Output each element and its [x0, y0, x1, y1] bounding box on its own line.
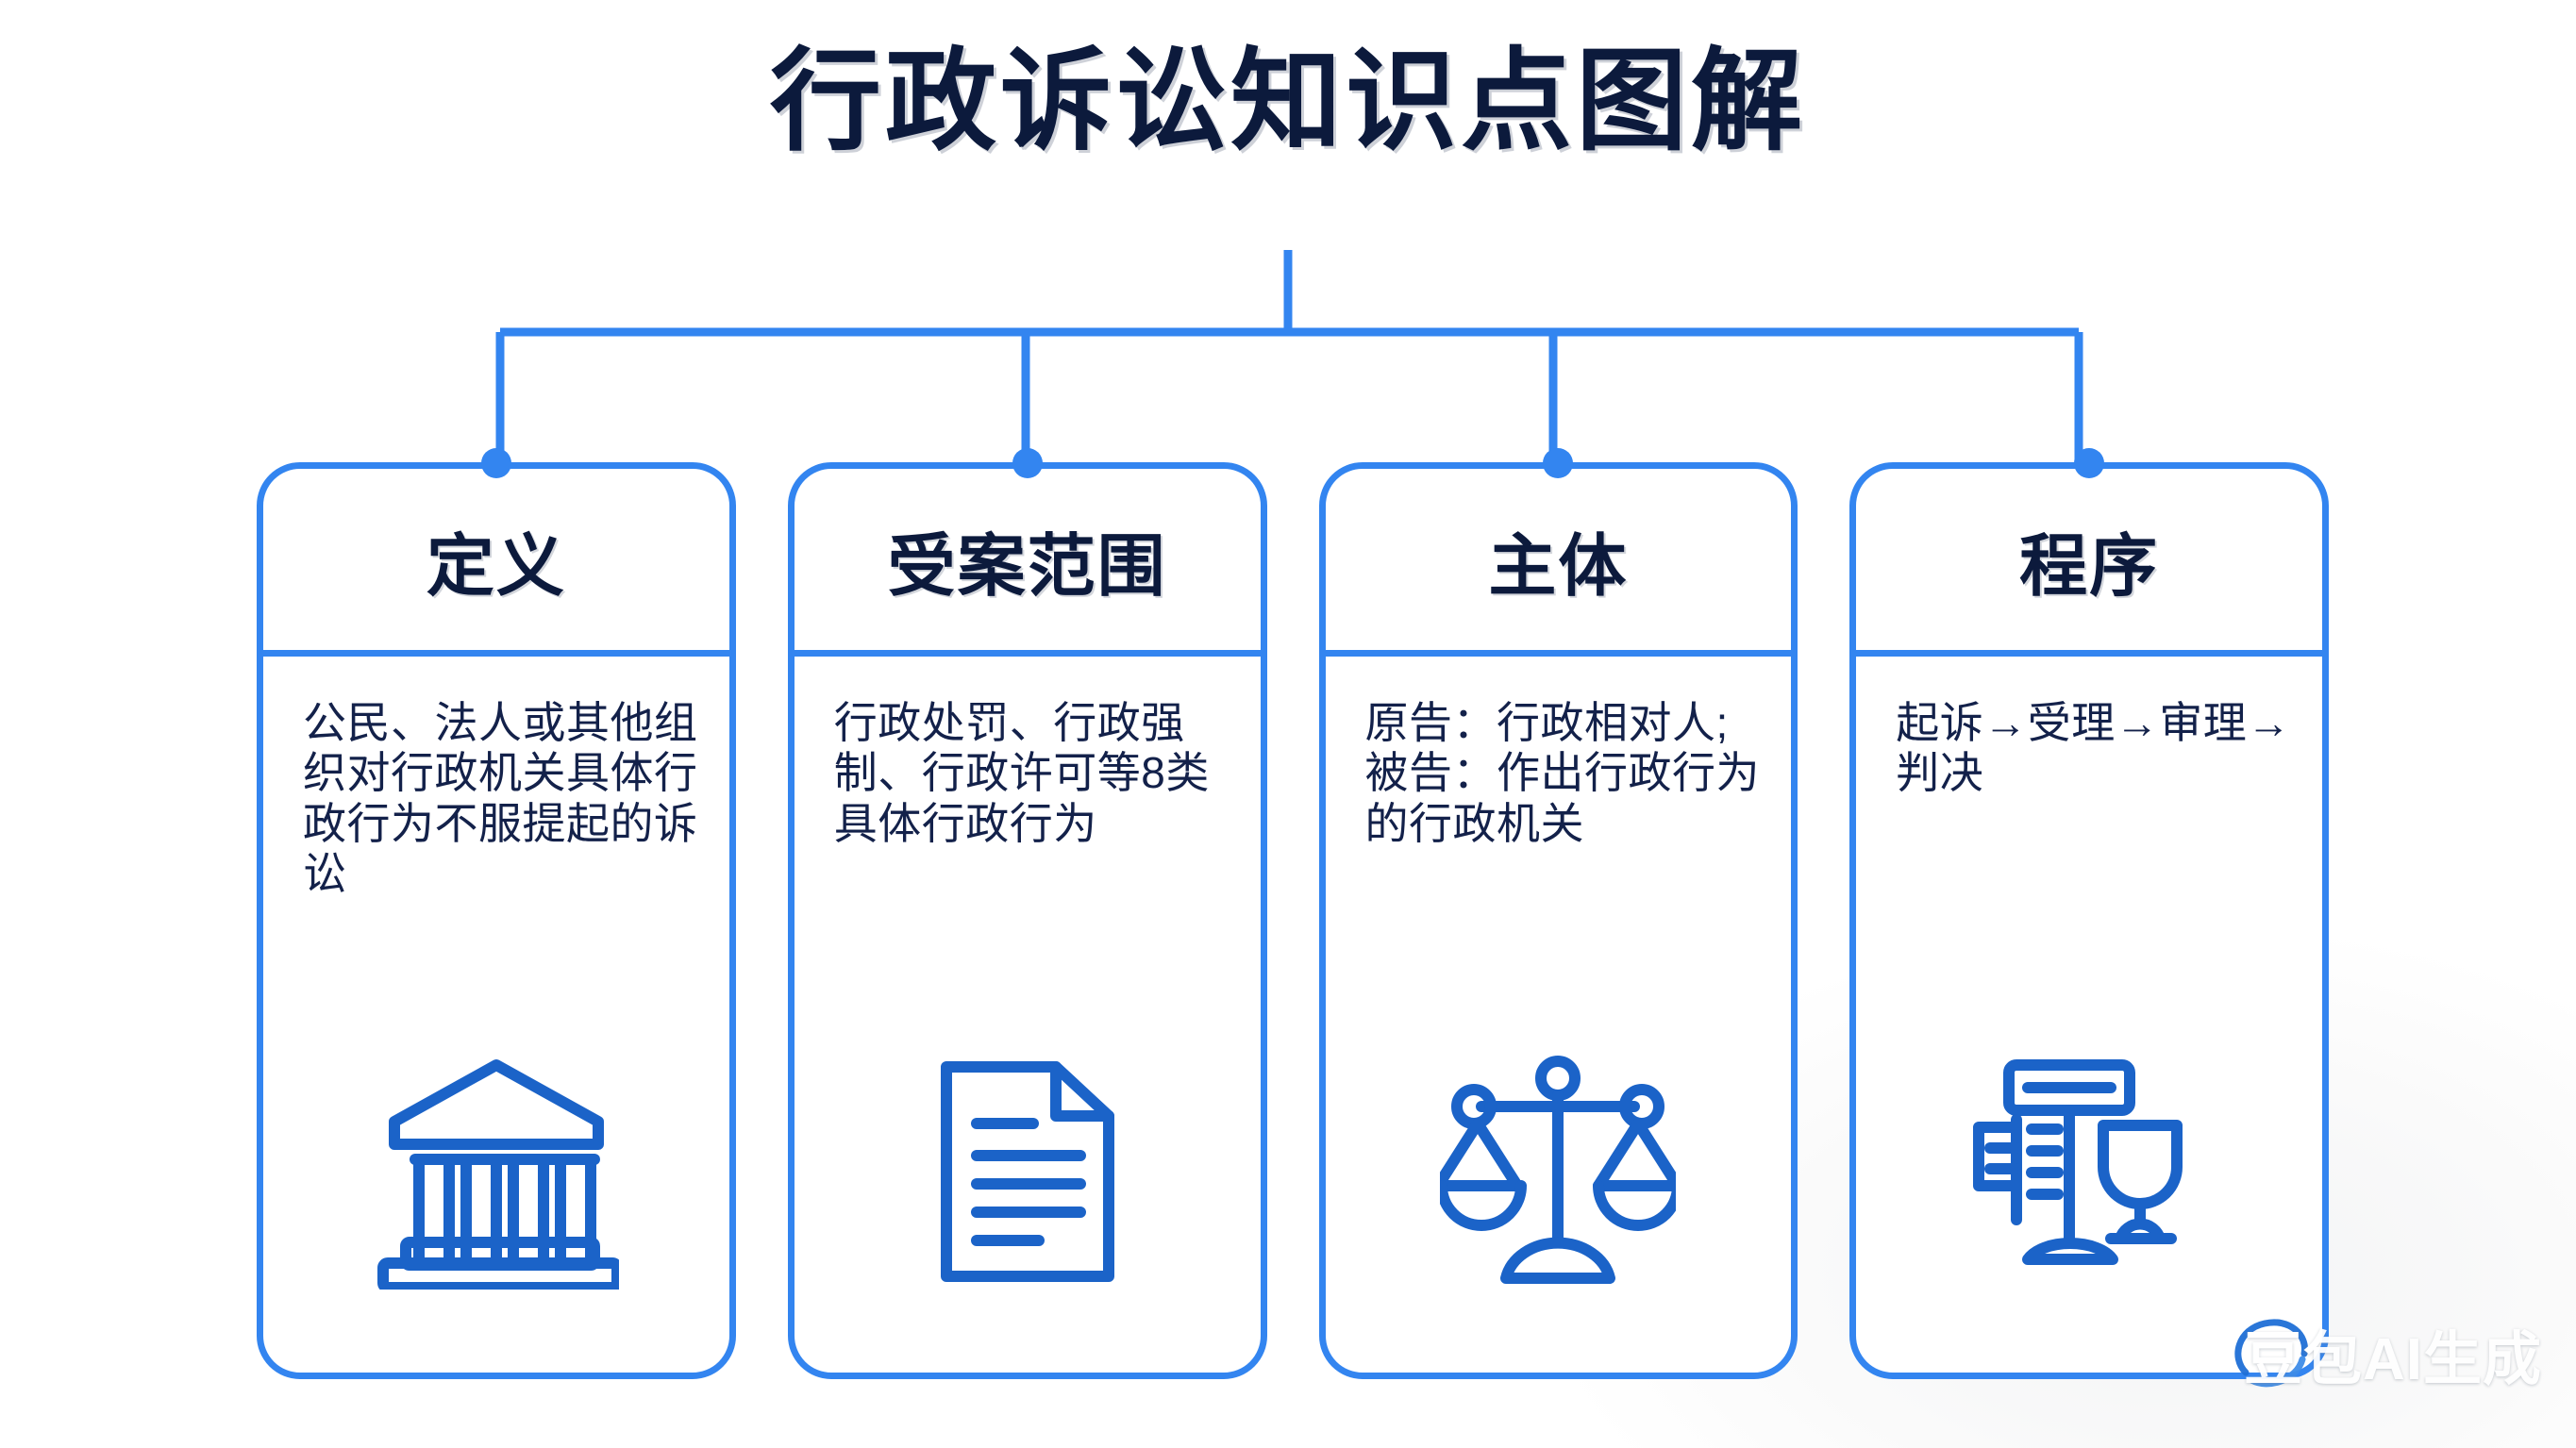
card-body: 原告：行政相对人;被告：作出行政行为的行政机关: [1326, 657, 1792, 1016]
card-header: 定义: [263, 469, 729, 657]
watermark: 豆包AI生成: [2227, 1308, 2542, 1399]
diagram-canvas: 行政诉讼知识点图解 定义 公民、法人或其他组织对行政机关具体行政行为不服提起的诉…: [0, 0, 2576, 1448]
page-title: 行政诉讼知识点图解: [0, 40, 2576, 164]
card-title: 主体: [1488, 510, 1628, 609]
card-body: 公民、法人或其他组织对行政机关具体行政行为不服提起的诉讼: [263, 657, 729, 1016]
card-definition[interactable]: 定义 公民、法人或其他组织对行政机关具体行政行为不服提起的诉讼: [257, 462, 736, 1379]
card-text: 行政处罚、行政强制、行政许可等8类具体行政行为: [834, 698, 1236, 849]
card-text: 公民、法人或其他组织对行政机关具体行政行为不服提起的诉讼: [303, 698, 705, 899]
connector-dot: [481, 448, 511, 478]
card-text: 原告：行政相对人;被告：作出行政行为的行政机关: [1365, 698, 1767, 849]
connector-dot: [1012, 448, 1043, 478]
card-body: 行政处罚、行政强制、行政许可等8类具体行政行为: [795, 657, 1261, 1016]
watermark-text: 豆包AI生成: [2244, 1311, 2542, 1396]
card-body: 起诉→受理→审理→判决: [1856, 657, 2322, 1016]
card-procedure[interactable]: 程序 起诉→受理→审理→判决: [1849, 462, 2329, 1379]
courthouse-icon: [263, 1016, 729, 1373]
card-header: 受案范围: [795, 469, 1261, 657]
document-icon: [795, 1016, 1261, 1373]
card-title: 受案范围: [888, 510, 1167, 609]
card-title: 程序: [2019, 510, 2159, 609]
card-scope[interactable]: 受案范围 行政处罚、行政强制、行政许可等8类具体行政行为: [788, 462, 1267, 1379]
scales-of-justice-icon: [1326, 1016, 1792, 1373]
card-header: 主体: [1326, 469, 1792, 657]
connector-dot: [1543, 448, 1573, 478]
card-header: 程序: [1856, 469, 2322, 657]
card-text: 起诉→受理→审理→判决: [1896, 698, 2298, 799]
connector-dot: [2074, 448, 2104, 478]
card-parties[interactable]: 主体 原告：行政相对人;被告：作出行政行为的行政机关: [1319, 462, 1798, 1379]
card-row: 定义 公民、法人或其他组织对行政机关具体行政行为不服提起的诉讼: [257, 462, 2329, 1379]
card-title: 定义: [427, 510, 566, 609]
